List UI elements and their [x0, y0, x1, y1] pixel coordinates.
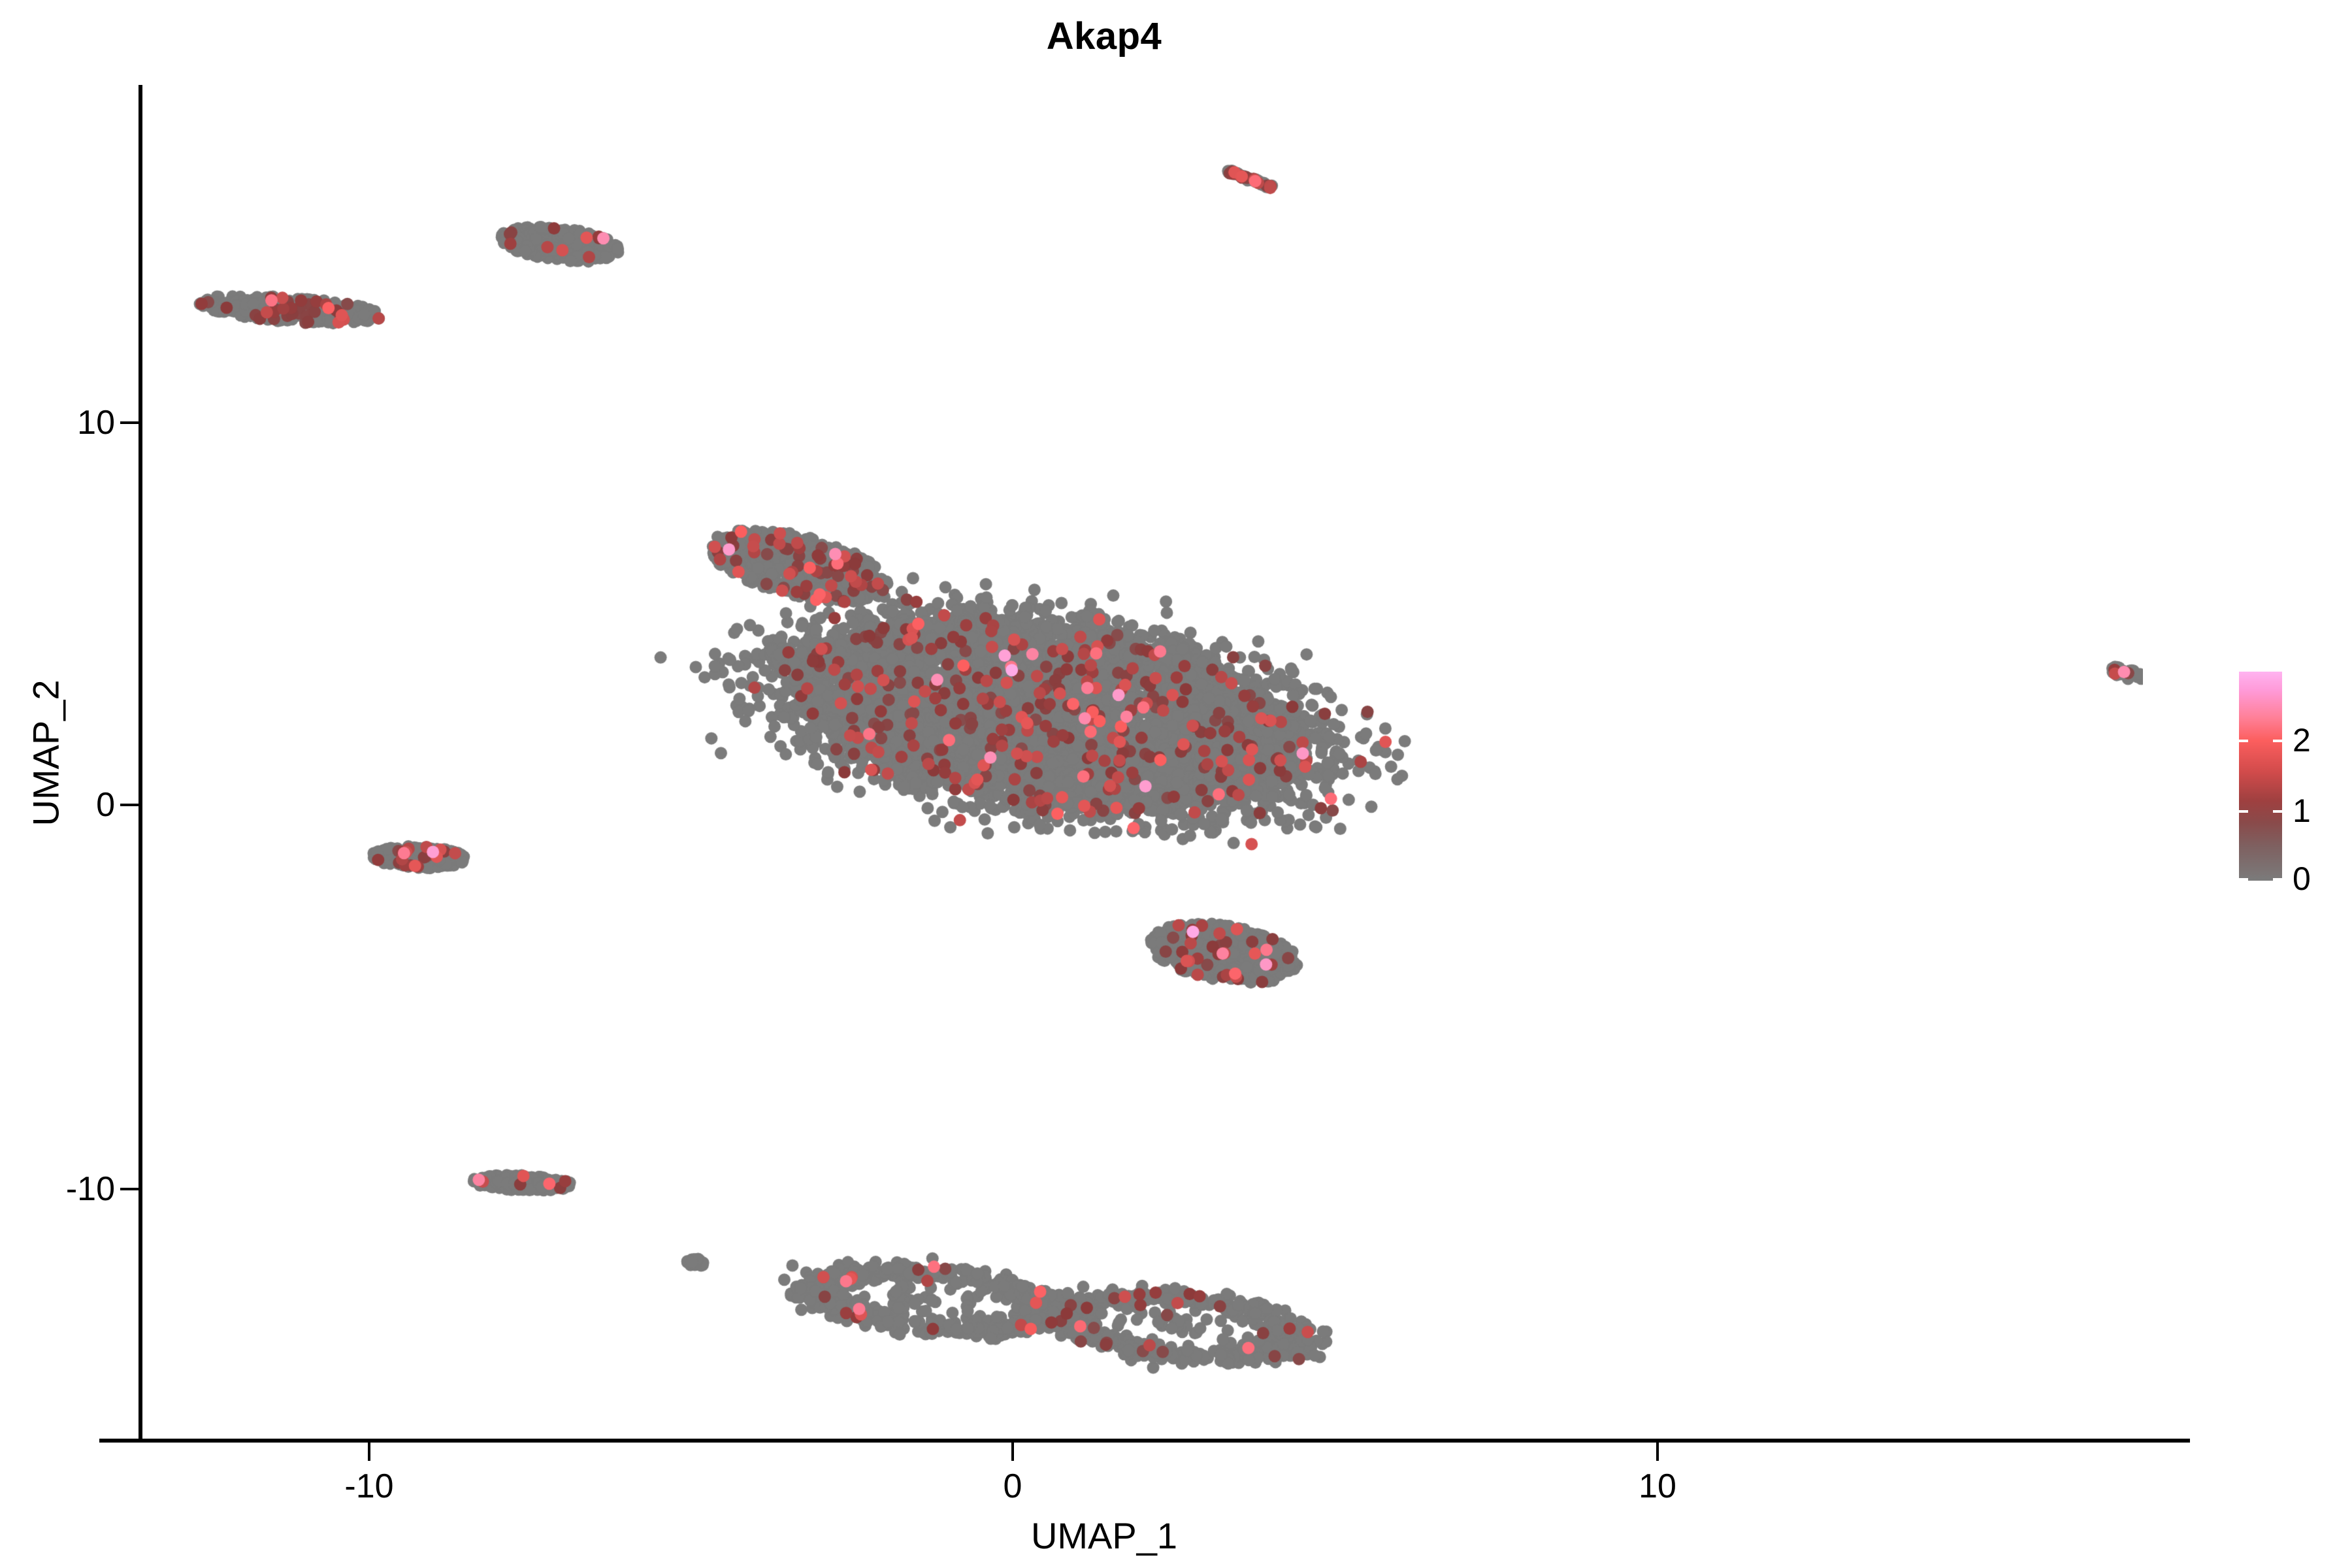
- colorbar-tick-0: [2239, 878, 2282, 881]
- page-title: Akap4: [0, 14, 2208, 58]
- x-tick-label-1: -10: [271, 1467, 467, 1506]
- y-tick-mark-1: [120, 421, 139, 424]
- x-tick-mark-3: [1656, 1443, 1659, 1461]
- colorbar-tick-seg-left: [2239, 740, 2248, 742]
- colorbar-gradient: [2239, 672, 2282, 881]
- y-tick-label-1: 10: [0, 403, 115, 442]
- feature-plot-root: Akap4 -10 0 10 10 0 -10 UMAP_1 UMAP_2 2 …: [0, 0, 2352, 1568]
- colorbar-tick-seg-right: [2273, 740, 2282, 742]
- y-tick-mark-3: [120, 1188, 139, 1190]
- y-axis-line: [139, 85, 142, 1443]
- x-axis-title: UMAP_1: [0, 1514, 2208, 1557]
- colorbar-tick-2: [2239, 740, 2282, 742]
- x-tick-label-3: 10: [1560, 1467, 1756, 1506]
- y-tick-mark-2: [120, 804, 139, 806]
- colorbar-label-0: 0: [2293, 862, 2311, 895]
- colorbar-legend: 2 1 0: [2239, 672, 2350, 887]
- colorbar-tick-seg-left: [2239, 810, 2248, 813]
- plot-panel: [140, 85, 2143, 1441]
- colorbar-tick-seg-left: [2239, 878, 2248, 881]
- x-tick-label-2: 0: [915, 1467, 1111, 1506]
- colorbar-tick-seg-right: [2273, 810, 2282, 813]
- y-axis-title: UMAP_2: [25, 557, 67, 949]
- scatter-points-canvas: [140, 85, 2143, 1441]
- colorbar-tick-seg-right: [2273, 878, 2282, 881]
- colorbar-label-2: 2: [2293, 724, 2311, 757]
- colorbar-tick-1: [2239, 810, 2282, 813]
- y-tick-label-3: -10: [0, 1169, 115, 1209]
- x-axis-line: [99, 1439, 2190, 1443]
- colorbar-label-1: 1: [2293, 794, 2311, 827]
- x-tick-mark-2: [1011, 1443, 1014, 1461]
- x-tick-mark-1: [368, 1443, 370, 1461]
